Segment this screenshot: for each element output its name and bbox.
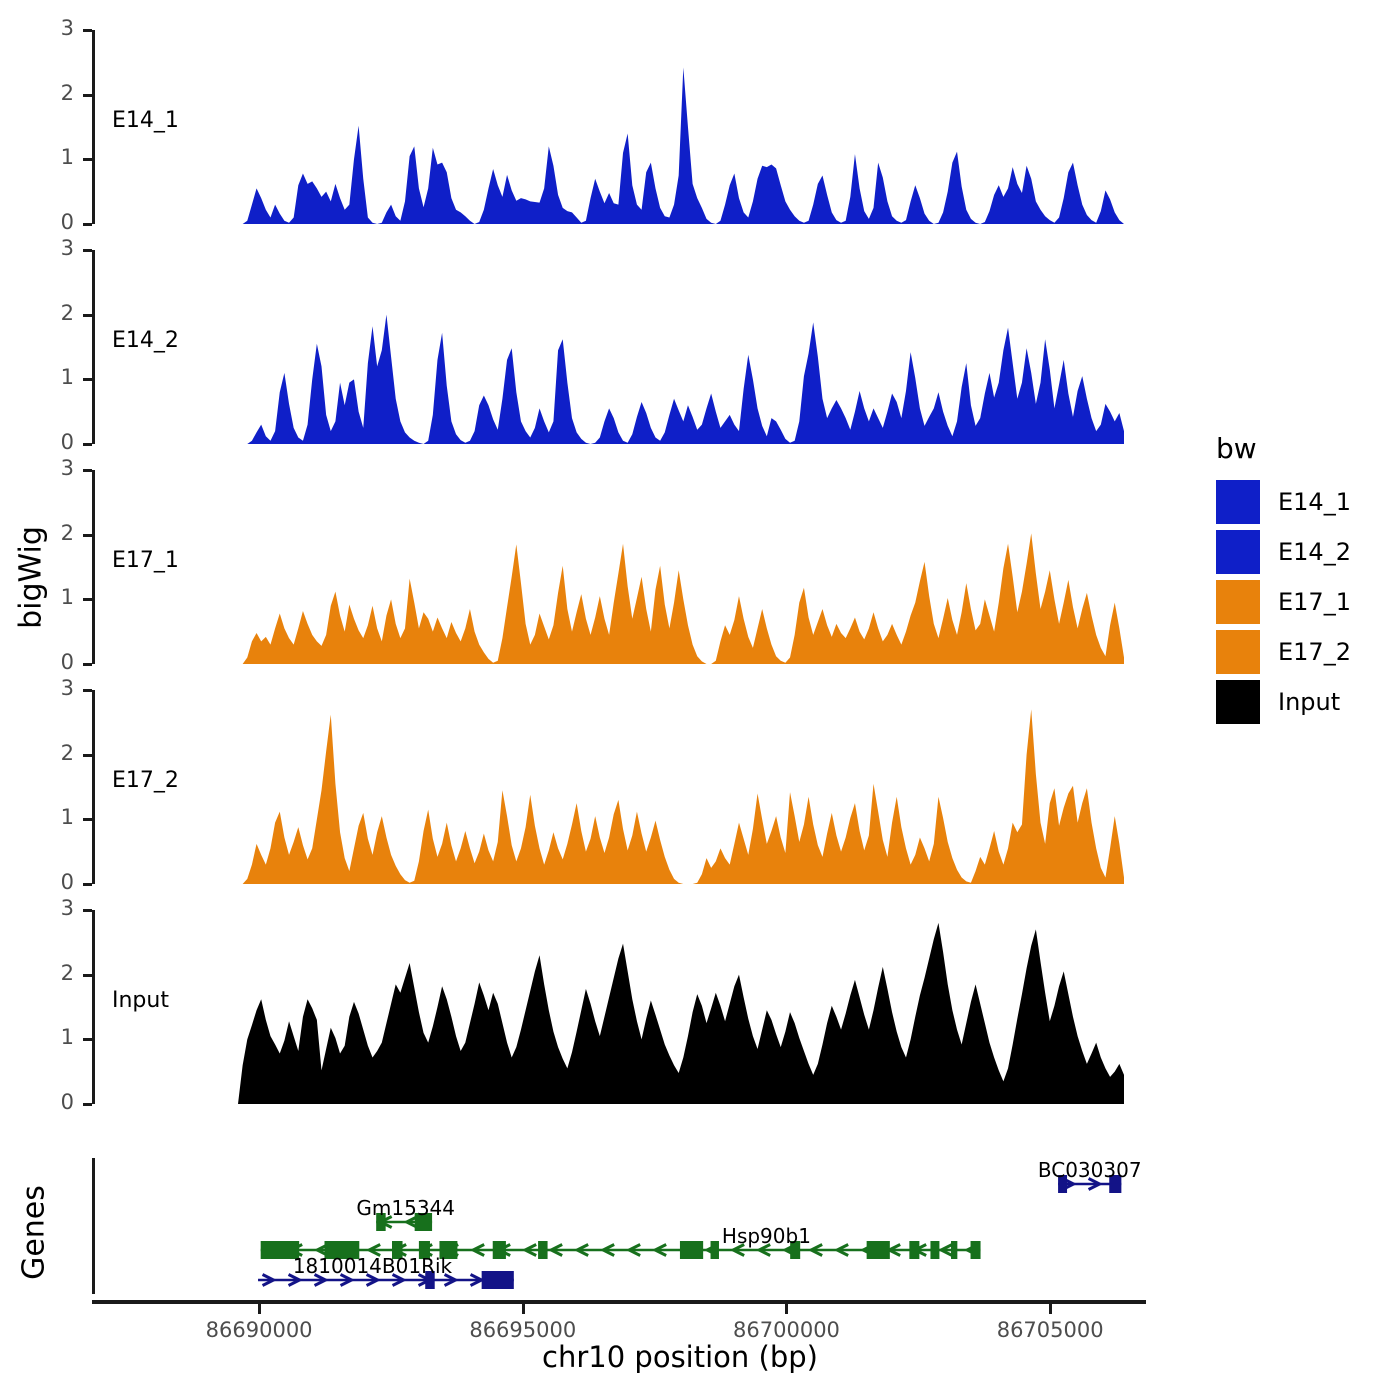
legend-item-label: Input xyxy=(1278,688,1340,716)
x-axis-line xyxy=(92,1300,1146,1304)
genes-panel: BC030307Gm15344Hsp90b11810014B01Rik xyxy=(0,1150,1160,1310)
exon-box xyxy=(711,1241,719,1259)
legend-item-e14_2[interactable]: E14_2 xyxy=(1216,530,1351,574)
legend-item-e17_1[interactable]: E17_1 xyxy=(1216,580,1351,624)
x-tick-mark xyxy=(522,1304,525,1314)
legend-item-label: E17_2 xyxy=(1278,638,1351,666)
gene-label-gm15344: Gm15344 xyxy=(356,1196,455,1220)
legend-title: bw xyxy=(1216,432,1257,465)
legend-item-label: E17_1 xyxy=(1278,588,1351,616)
legend-color-swatch xyxy=(1216,580,1260,624)
y-tick-mark xyxy=(83,974,92,977)
exon-box xyxy=(930,1241,939,1259)
legend-item-input[interactable]: Input xyxy=(1216,680,1340,724)
y-tick-mark xyxy=(83,378,92,381)
signal-area-e14_1 xyxy=(238,30,1124,224)
x-tick-mark xyxy=(785,1304,788,1314)
y-tick-mark xyxy=(83,94,92,97)
gene-label-1810014b01rik: 1810014B01Rik xyxy=(293,1254,452,1278)
panel-label-e17_1: E17_1 xyxy=(112,548,179,573)
exon-box xyxy=(482,1271,514,1289)
y-tick-label: 2 xyxy=(46,521,74,545)
y-tick-label: 0 xyxy=(46,1090,74,1114)
panel-axis-line-e14_2 xyxy=(92,250,95,444)
legend-color-swatch xyxy=(1216,630,1260,674)
y-tick-label: 1 xyxy=(46,585,74,609)
y-tick-label: 0 xyxy=(46,870,74,894)
signal-area-e17_2 xyxy=(238,690,1124,884)
y-tick-mark xyxy=(83,1038,92,1041)
y-tick-mark xyxy=(83,598,92,601)
y-tick-label: 3 xyxy=(46,456,74,480)
legend-items: E14_1E14_2E17_1E17_2Input xyxy=(1216,480,1400,730)
figure-root: bigWig Genes 0123E14_10123E14_20123E17_1… xyxy=(0,0,1400,1400)
signal-area-e14_2 xyxy=(238,250,1124,444)
gene-label-bc030307: BC030307 xyxy=(1038,1158,1142,1182)
legend-color-swatch xyxy=(1216,480,1260,524)
y-tick-mark xyxy=(83,29,92,32)
x-tick-label: 86705000 xyxy=(997,1318,1104,1342)
exon-box xyxy=(909,1241,919,1259)
y-tick-mark xyxy=(83,754,92,757)
exon-box xyxy=(538,1241,547,1259)
exon-box xyxy=(867,1241,890,1259)
y-tick-mark xyxy=(83,663,92,666)
y-tick-label: 2 xyxy=(46,301,74,325)
panel-axis-line-input xyxy=(92,910,95,1104)
panel-label-e14_2: E14_2 xyxy=(112,328,179,353)
legend-item-e17_2[interactable]: E17_2 xyxy=(1216,630,1351,674)
y-tick-mark xyxy=(83,818,92,821)
y-tick-label: 3 xyxy=(46,896,74,920)
y-tick-label: 1 xyxy=(46,805,74,829)
exon-box xyxy=(680,1241,703,1259)
y-tick-mark xyxy=(83,534,92,537)
legend-color-swatch xyxy=(1216,680,1260,724)
bigwig-panel-stack: 0123E14_10123E14_20123E17_10123E17_20123… xyxy=(0,0,1160,1130)
signal-area-e17_1 xyxy=(238,470,1124,664)
panel-label-e17_2: E17_2 xyxy=(112,768,179,793)
panel-label-input: Input xyxy=(112,988,169,1013)
legend-item-e14_1[interactable]: E14_1 xyxy=(1216,480,1351,524)
y-tick-mark xyxy=(83,443,92,446)
x-tick-label: 86690000 xyxy=(206,1318,313,1342)
panel-axis-line-e17_1 xyxy=(92,470,95,664)
y-tick-label: 1 xyxy=(46,1025,74,1049)
legend-color-swatch xyxy=(1216,530,1260,574)
y-tick-label: 1 xyxy=(46,365,74,389)
y-tick-label: 2 xyxy=(46,741,74,765)
y-tick-label: 1 xyxy=(46,145,74,169)
signal-area-input xyxy=(238,910,1124,1104)
panel-axis-line-e14_1 xyxy=(92,30,95,224)
exon-box xyxy=(951,1241,957,1259)
legend-item-label: E14_2 xyxy=(1278,538,1351,566)
y-tick-mark xyxy=(83,909,92,912)
panel-label-e14_1: E14_1 xyxy=(112,108,179,133)
y-tick-mark xyxy=(83,469,92,472)
y-tick-label: 2 xyxy=(46,961,74,985)
x-axis-title: chr10 position (bp) xyxy=(542,1340,818,1374)
y-tick-label: 3 xyxy=(46,16,74,40)
x-tick-mark xyxy=(258,1304,261,1314)
y-tick-label: 2 xyxy=(46,81,74,105)
y-tick-mark xyxy=(83,314,92,317)
y-tick-label: 3 xyxy=(46,676,74,700)
y-tick-mark xyxy=(83,1103,92,1106)
panel-axis-line-e17_2 xyxy=(92,690,95,884)
y-tick-mark xyxy=(83,883,92,886)
x-tick-label: 86695000 xyxy=(469,1318,576,1342)
y-tick-label: 0 xyxy=(46,650,74,674)
y-tick-label: 0 xyxy=(46,210,74,234)
legend-item-label: E14_1 xyxy=(1278,488,1351,516)
gene-models-svg xyxy=(0,1150,1160,1310)
y-tick-label: 0 xyxy=(46,430,74,454)
y-tick-mark xyxy=(83,158,92,161)
exon-box xyxy=(971,1241,981,1259)
exon-box xyxy=(493,1241,506,1259)
y-tick-mark xyxy=(83,249,92,252)
x-tick-label: 86700000 xyxy=(733,1318,840,1342)
x-tick-mark xyxy=(1049,1304,1052,1314)
gene-label-hsp90b1: Hsp90b1 xyxy=(722,1224,811,1248)
y-tick-mark xyxy=(83,689,92,692)
y-tick-label: 3 xyxy=(46,236,74,260)
y-tick-mark xyxy=(83,223,92,226)
